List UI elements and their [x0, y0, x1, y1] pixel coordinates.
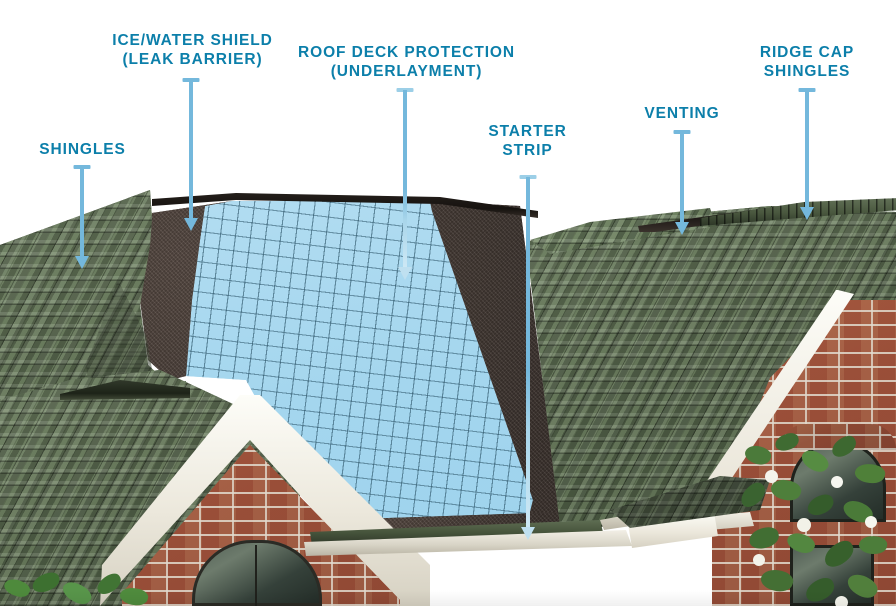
arrow-head	[521, 527, 535, 540]
arrow-head	[800, 207, 814, 220]
arrow-ridge-cap-shingles	[798, 88, 815, 220]
label-ridge-cap-shingles: RIDGE CAP SHINGLES	[742, 43, 872, 81]
bottom-vignette	[0, 590, 896, 606]
house-photo	[0, 0, 896, 606]
arrow-shaft	[189, 80, 193, 221]
foliage-bush-right	[735, 430, 896, 606]
arrow-shaft	[80, 167, 84, 259]
arrow-head	[184, 218, 198, 231]
label-roof-deck-protection: ROOF DECK PROTECTION (UNDERLAYMENT)	[288, 43, 525, 81]
arrow-shaft	[680, 132, 684, 225]
arrow-venting	[673, 130, 690, 235]
arrow-ice-water-shield	[182, 78, 199, 231]
arrow-head	[675, 222, 689, 235]
label-starter-strip: STARTER STRIP	[466, 122, 589, 160]
arrow-head	[398, 267, 412, 280]
arrow-head	[75, 256, 89, 269]
label-venting: VENTING	[620, 104, 744, 123]
label-shingles: SHINGLES	[20, 140, 145, 159]
arrow-roof-deck-protection	[396, 88, 413, 280]
arrow-shingles	[73, 165, 90, 269]
arrow-shaft	[526, 177, 530, 530]
arrow-shaft	[403, 90, 407, 270]
label-ice-water-shield: ICE/WATER SHIELD (LEAK BARRIER)	[90, 31, 295, 69]
arrow-starter-strip	[519, 175, 536, 540]
roofing-diagram: SHINGLES ICE/WATER SHIELD (LEAK BARRIER)…	[0, 0, 896, 606]
arrow-shaft	[805, 90, 809, 210]
